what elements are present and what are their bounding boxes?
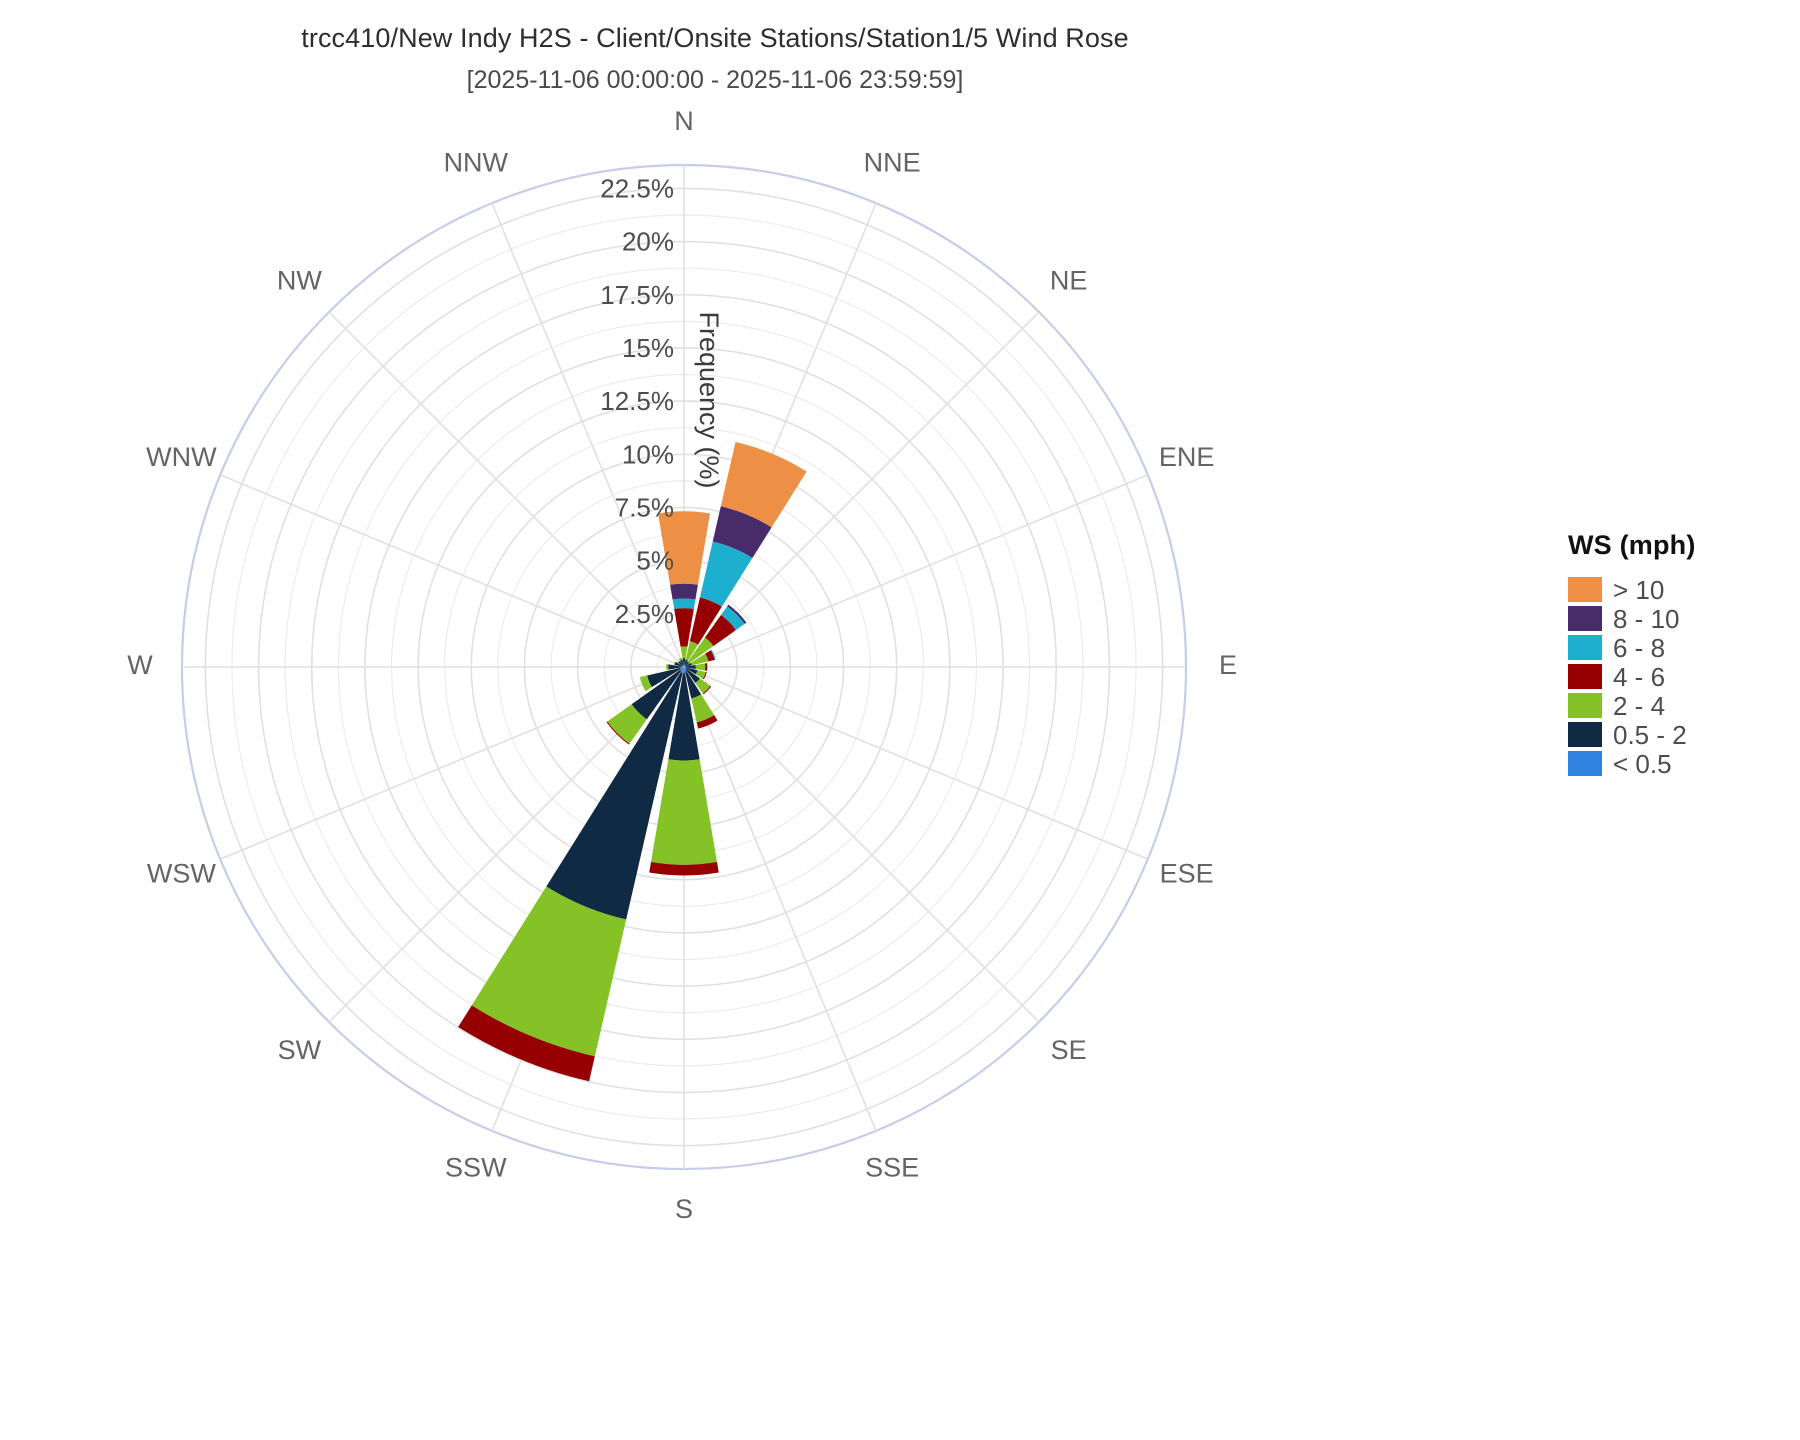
- legend-item-label: 4 - 6: [1613, 664, 1665, 690]
- radial-tick-label: 10%: [622, 439, 674, 469]
- radial-tick-label: 15%: [622, 333, 674, 363]
- direction-label-nnw: NNW: [444, 148, 509, 178]
- wind-rose-plot: 2.5%5%7.5%10%12.5%15%17.5%20%22.5% NNNEN…: [0, 110, 1380, 1340]
- legend-item-label: 2 - 4: [1613, 693, 1665, 719]
- legend-item-label: > 10: [1613, 577, 1664, 603]
- wind-rose-petal-segment[interactable]: [670, 584, 698, 600]
- direction-label-nne: NNE: [864, 148, 921, 178]
- radial-tick-label: 22.5%: [600, 173, 674, 203]
- legend-item[interactable]: 2 - 4: [1568, 691, 1800, 720]
- legend-item-label: 6 - 8: [1613, 635, 1665, 661]
- radial-tick-label: 12.5%: [600, 386, 674, 416]
- legend-swatch-icon: [1568, 635, 1602, 660]
- legend-swatch-icon: [1568, 751, 1602, 776]
- radial-tick-label: 7.5%: [615, 492, 674, 522]
- legend-swatch-icon: [1568, 693, 1602, 718]
- legend-item[interactable]: 0.5 - 2: [1568, 720, 1800, 749]
- wind-rose-petal-segment[interactable]: [696, 663, 706, 670]
- legend-item[interactable]: < 0.5: [1568, 749, 1800, 778]
- direction-label-s: S: [675, 1194, 693, 1224]
- wind-rose-petal-segment[interactable]: [666, 664, 668, 670]
- wind-rose-petal-segment[interactable]: [673, 599, 696, 609]
- direction-label-e: E: [1219, 650, 1237, 680]
- legend-item-label: 8 - 10: [1613, 606, 1680, 632]
- direction-label-ene: ENE: [1159, 442, 1215, 472]
- direction-label-sw: SW: [278, 1035, 322, 1065]
- legend-swatch-icon: [1568, 577, 1602, 602]
- page-title: trcc410/New Indy H2S - Client/Onsite Sta…: [0, 22, 1430, 56]
- direction-label-n: N: [674, 110, 694, 136]
- wind-rose-petal-segment[interactable]: [651, 759, 717, 865]
- legend-item-label: 0.5 - 2: [1613, 722, 1687, 748]
- direction-label-ssw: SSW: [445, 1153, 507, 1183]
- legend-item[interactable]: > 10: [1568, 575, 1800, 604]
- direction-label-wsw: WSW: [147, 858, 216, 888]
- radial-tick-label: 17.5%: [600, 280, 674, 310]
- legend-swatch-icon: [1568, 664, 1602, 689]
- legend-item[interactable]: 6 - 8: [1568, 633, 1800, 662]
- wind-rose-petal-segment[interactable]: [705, 663, 707, 671]
- petal-layer[interactable]: [458, 442, 806, 1081]
- legend-item[interactable]: 8 - 10: [1568, 604, 1800, 633]
- radial-tick-label: 2.5%: [615, 599, 674, 629]
- chart-subtitle: [2025-11-06 00:00:00 - 2025-11-06 23:59:…: [0, 66, 1430, 95]
- direction-label-sse: SSE: [865, 1153, 919, 1183]
- legend-item[interactable]: 4 - 6: [1568, 662, 1800, 691]
- legend-rows: > 108 - 106 - 84 - 62 - 40.5 - 2< 0.5: [1568, 575, 1800, 778]
- legend: WS (mph) > 108 - 106 - 84 - 62 - 40.5 - …: [1568, 530, 1800, 778]
- radial-tick-labels: 2.5%5%7.5%10%12.5%15%17.5%20%22.5%: [600, 173, 674, 628]
- radial-axis-title-text: Frequency (%): [694, 311, 724, 488]
- legend-swatch-icon: [1568, 722, 1602, 747]
- direction-label-wnw: WNW: [146, 442, 217, 472]
- wind-rose-svg: 2.5%5%7.5%10%12.5%15%17.5%20%22.5% NNNEN…: [0, 110, 1380, 1340]
- direction-label-se: SE: [1051, 1035, 1087, 1065]
- direction-label-nw: NW: [277, 265, 322, 295]
- direction-label-ese: ESE: [1160, 858, 1214, 888]
- legend-item-label: < 0.5: [1613, 751, 1672, 777]
- title-block: trcc410/New Indy H2S - Client/Onsite Sta…: [0, 22, 1430, 95]
- radial-tick-label: 20%: [622, 227, 674, 257]
- wind-rose-petal-segment[interactable]: [681, 646, 688, 658]
- radial-axis-title: Frequency (%): [694, 311, 724, 488]
- direction-label-ne: NE: [1050, 265, 1088, 295]
- direction-label-w: W: [127, 650, 153, 680]
- radial-tick-label: 5%: [636, 546, 674, 576]
- legend-swatch-icon: [1568, 606, 1602, 631]
- legend-title: WS (mph): [1568, 530, 1800, 561]
